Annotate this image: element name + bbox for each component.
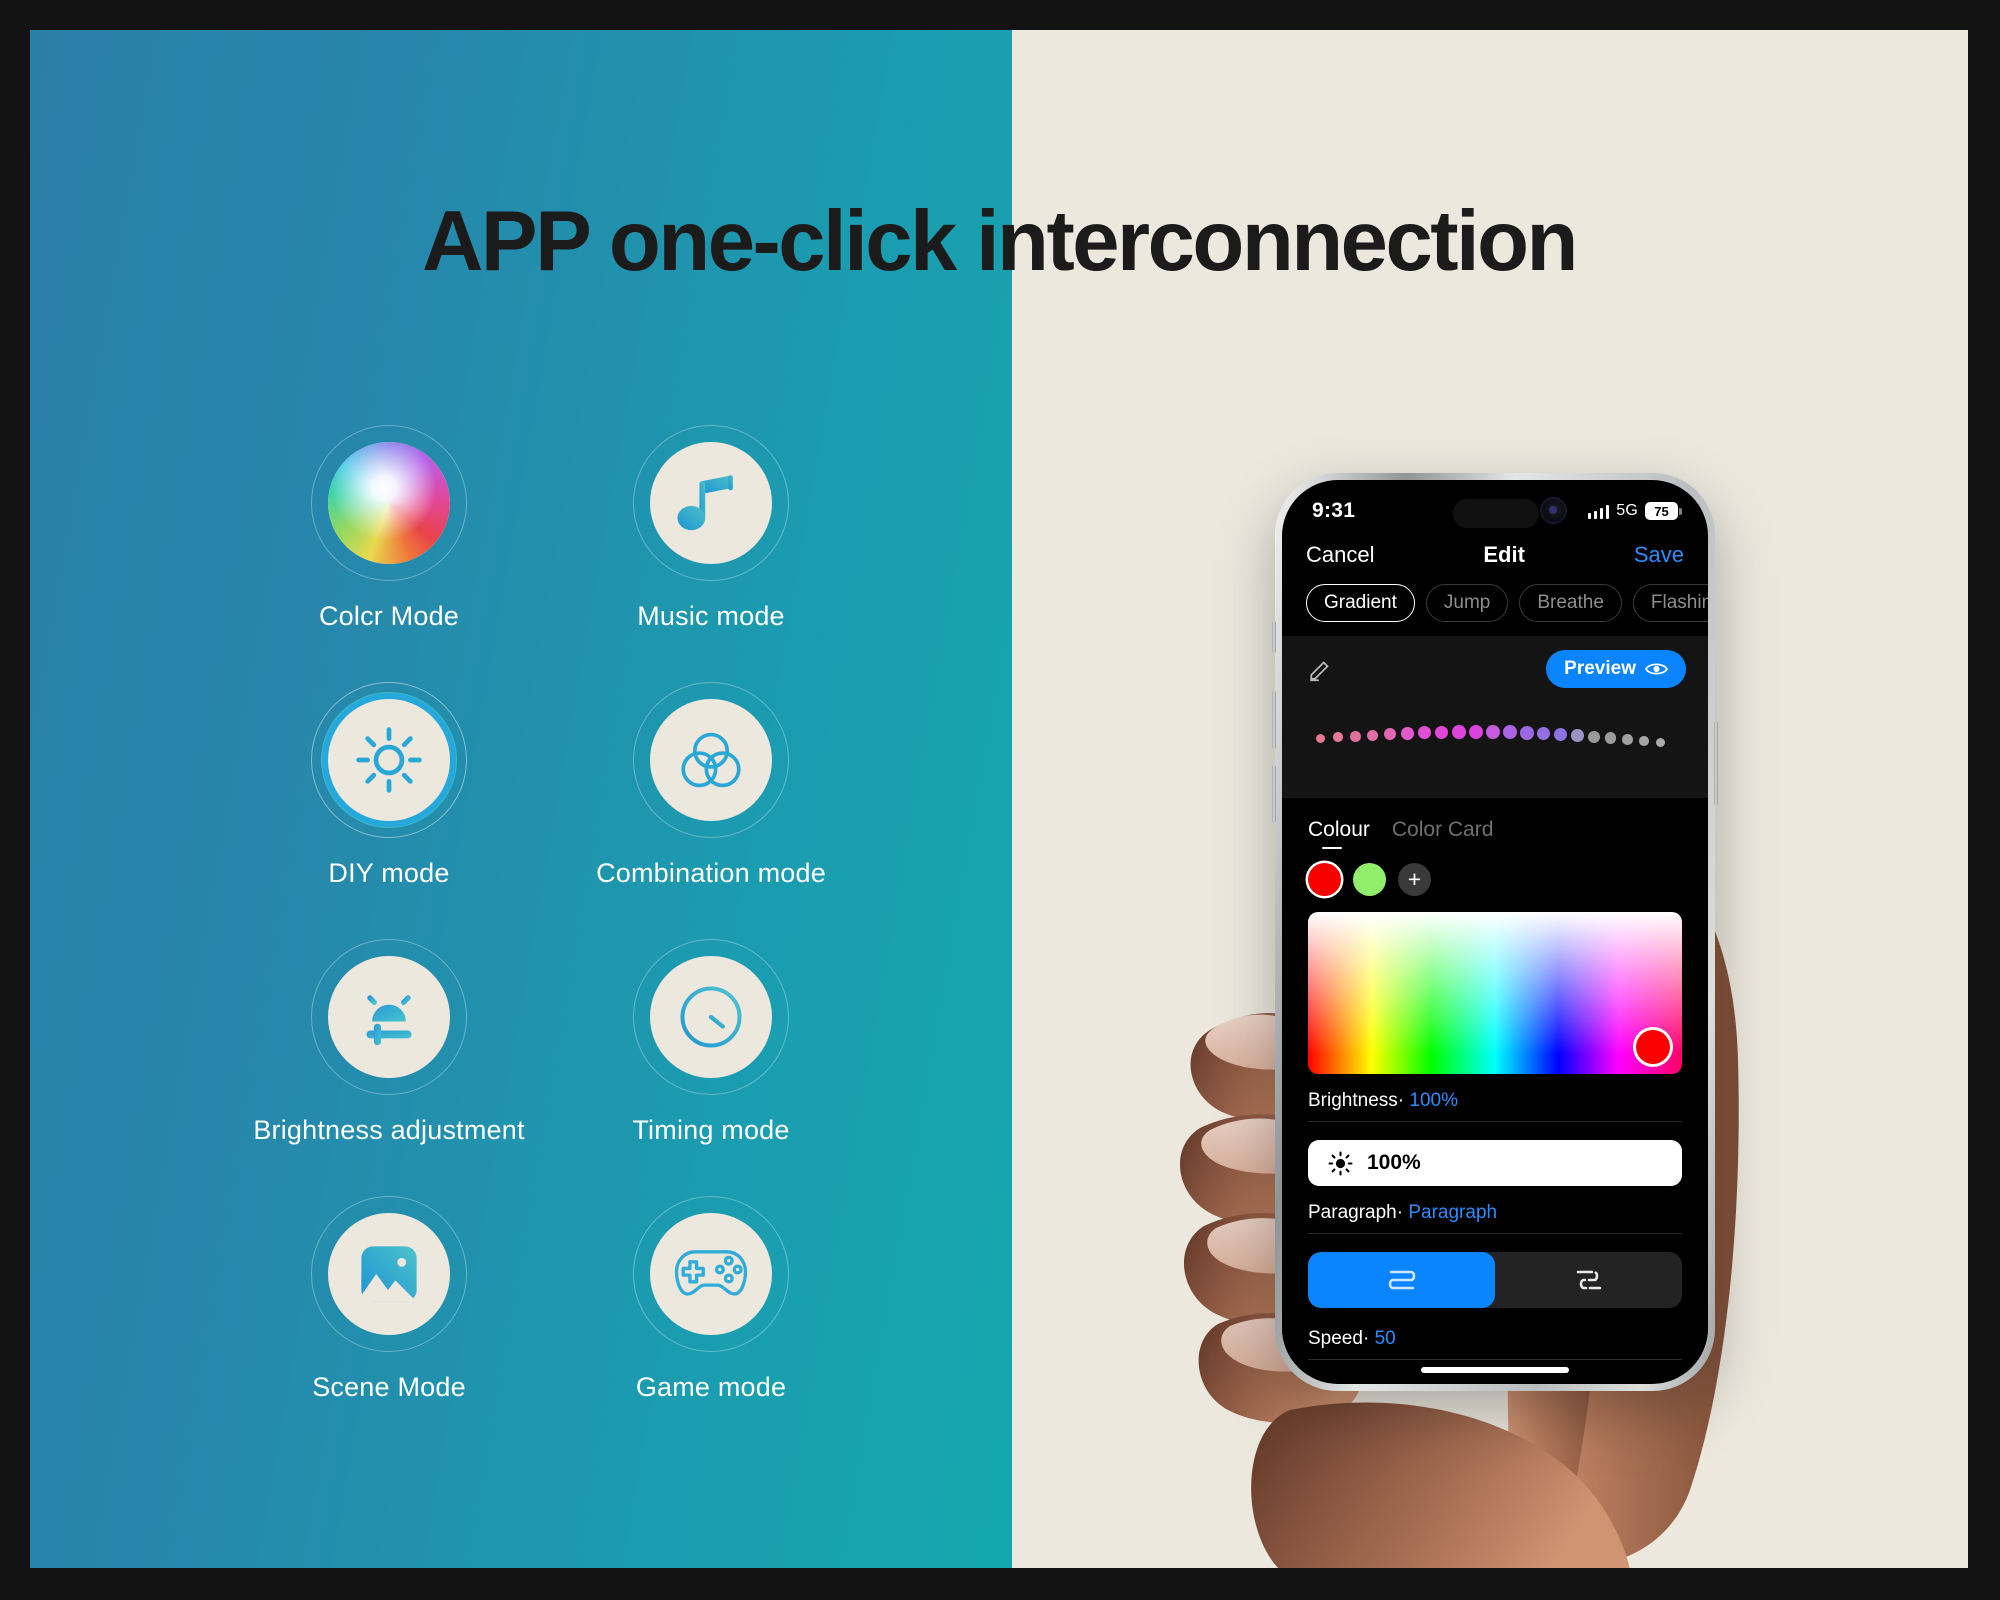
color-swatch-green[interactable] <box>1353 863 1386 896</box>
mode-grid: Colcr Mode <box>240 425 860 1453</box>
speed-label: Speed· 50 <box>1308 1328 1682 1359</box>
gradient-dot <box>1503 725 1517 739</box>
gradient-dot <box>1384 728 1396 740</box>
mode-halo <box>633 1196 789 1352</box>
phone-mockup: 9:31 5G 75 <box>1275 473 1715 1391</box>
preview-button[interactable]: Preview <box>1546 650 1686 688</box>
mode-label: Scene Mode <box>312 1372 466 1403</box>
mode-item-timing[interactable]: Timing mode <box>562 939 860 1196</box>
power-button[interactable] <box>1714 721 1718 805</box>
mode-disc <box>650 1213 772 1335</box>
silent-switch[interactable] <box>1272 621 1276 653</box>
effect-tabs: Gradient Jump Breathe Flashing <box>1282 580 1708 636</box>
color-picker-area[interactable] <box>1308 912 1682 1074</box>
gradient-dot <box>1452 725 1466 739</box>
volume-down-button[interactable] <box>1272 765 1276 823</box>
gradient-dot <box>1656 738 1665 747</box>
phone-frame: 9:31 5G 75 <box>1275 473 1715 1391</box>
mode-label: Brightness adjustment <box>253 1115 524 1146</box>
volume-up-button[interactable] <box>1272 691 1276 749</box>
preview-button-label: Preview <box>1564 658 1636 680</box>
brightness-label: Brightness· 100% <box>1308 1090 1682 1121</box>
add-color-button[interactable]: + <box>1398 863 1431 896</box>
mode-label: Game mode <box>636 1372 786 1403</box>
tab-colour[interactable]: Colour <box>1308 818 1370 851</box>
status-time: 9:31 <box>1312 499 1355 523</box>
brightness-separator: · <box>1398 1090 1404 1111</box>
color-wheel-icon <box>328 442 450 564</box>
mode-label: DIY mode <box>328 858 449 889</box>
mode-label: Music mode <box>637 601 785 632</box>
front-camera-icon <box>1540 497 1567 524</box>
mode-disc <box>328 699 450 821</box>
gradient-dot <box>1486 725 1500 739</box>
status-bar: 9:31 5G 75 <box>1282 480 1708 536</box>
eye-icon <box>1645 661 1668 677</box>
status-indicators: 5G 75 <box>1588 502 1678 520</box>
venn-circles-icon <box>674 723 748 797</box>
brightness-row: Brightness· 100% <box>1308 1090 1682 1186</box>
tab-jump[interactable]: Jump <box>1426 584 1508 622</box>
mode-halo <box>311 425 467 581</box>
gradient-dot <box>1622 734 1633 745</box>
mode-item-color[interactable]: Colcr Mode <box>240 425 538 682</box>
paragraph-label: Paragraph· Paragraph <box>1308 1202 1682 1233</box>
color-swatch-red[interactable] <box>1308 863 1341 896</box>
speed-label-text: Speed <box>1308 1328 1363 1349</box>
pencil-icon[interactable] <box>1308 656 1334 682</box>
gradient-dot <box>1554 728 1567 741</box>
paragraph-row: Paragraph· Paragraph <box>1308 1202 1682 1308</box>
colour-section: Colour Color Card + <box>1282 798 1708 1360</box>
gradient-dot <box>1537 727 1550 740</box>
brightness-value: 100% <box>1409 1090 1458 1111</box>
brightness-slider[interactable]: 100% <box>1308 1140 1682 1186</box>
flow-reverse-icon <box>1570 1267 1608 1293</box>
mode-halo <box>633 682 789 838</box>
gradient-dot <box>1333 732 1343 742</box>
mode-item-brightness[interactable]: Brightness adjustment <box>240 939 538 1196</box>
gradient-dot <box>1605 732 1616 743</box>
gradient-dot <box>1367 730 1378 741</box>
page-title: APP one-click interconnection <box>30 193 1968 291</box>
phone-screen: 9:31 5G 75 <box>1282 480 1708 1384</box>
mode-item-scene[interactable]: Scene Mode <box>240 1196 538 1453</box>
mode-halo <box>311 1196 467 1352</box>
mode-disc <box>650 699 772 821</box>
home-indicator[interactable] <box>1421 1367 1569 1373</box>
brightness-slider-value: 100% <box>1367 1151 1421 1175</box>
save-button[interactable]: Save <box>1634 542 1684 568</box>
tab-gradient[interactable]: Gradient <box>1306 584 1415 622</box>
mode-item-combination[interactable]: Combination mode <box>562 682 860 939</box>
mode-disc <box>328 1213 450 1335</box>
cellular-signal-icon <box>1588 504 1610 519</box>
dynamic-island <box>1453 499 1539 528</box>
speed-value: 50 <box>1375 1328 1396 1349</box>
tab-breathe[interactable]: Breathe <box>1519 584 1622 622</box>
paragraph-label-text: Paragraph <box>1308 1202 1397 1223</box>
mode-halo-active <box>311 682 467 838</box>
gradient-dot-strip[interactable] <box>1308 704 1686 770</box>
music-note-icon <box>674 466 748 540</box>
mode-label: Combination mode <box>596 858 826 889</box>
battery-icon: 75 <box>1645 502 1678 520</box>
mode-label: Colcr Mode <box>319 601 459 632</box>
preview-panel: Preview <box>1282 636 1708 798</box>
mode-item-game[interactable]: Game mode <box>562 1196 860 1453</box>
paragraph-value: Paragraph <box>1408 1202 1497 1223</box>
flow-forward-icon-button[interactable] <box>1308 1252 1495 1308</box>
gradient-dot <box>1588 731 1600 743</box>
mode-disc <box>328 956 450 1078</box>
paragraph-separator: · <box>1397 1202 1403 1223</box>
gradient-dot <box>1350 731 1361 742</box>
mode-halo <box>311 939 467 1095</box>
speed-row: Speed· 50 <box>1308 1328 1682 1360</box>
colour-tabs: Colour Color Card <box>1308 818 1682 851</box>
cancel-button[interactable]: Cancel <box>1306 542 1374 568</box>
tab-flashing[interactable]: Flashing <box>1633 584 1708 622</box>
brightness-label-text: Brightness <box>1308 1090 1398 1111</box>
mode-label: Timing mode <box>632 1115 789 1146</box>
brightness-slider-icon <box>353 981 425 1053</box>
mode-disc <box>328 442 450 564</box>
battery-level: 75 <box>1654 504 1668 519</box>
mode-item-diy[interactable]: DIY mode <box>240 682 538 939</box>
poster-canvas: APP one-click interconnection Colcr Mode <box>0 0 2000 1600</box>
sun-icon <box>353 724 425 796</box>
poster-content: APP one-click interconnection Colcr Mode <box>30 30 1968 1568</box>
gradient-dot <box>1435 726 1448 739</box>
gradient-dot <box>1571 729 1584 742</box>
mode-halo <box>633 425 789 581</box>
paragraph-segmented-control <box>1308 1252 1682 1308</box>
mode-halo <box>633 939 789 1095</box>
preview-row: Preview <box>1308 650 1686 688</box>
divider <box>1308 1233 1682 1234</box>
nav-bar: Cancel Edit Save <box>1282 536 1708 580</box>
gradient-dot <box>1316 734 1325 743</box>
speed-separator: · <box>1363 1328 1369 1349</box>
gradient-dot <box>1469 725 1483 739</box>
mode-disc <box>650 956 772 1078</box>
gradient-dot <box>1401 727 1414 740</box>
color-picker-handle[interactable] <box>1636 1030 1670 1064</box>
clock-icon <box>673 979 749 1055</box>
gradient-dot <box>1520 726 1534 740</box>
swatch-row: + <box>1308 863 1682 896</box>
screen-title: Edit <box>1374 542 1633 568</box>
gradient-dot <box>1639 736 1649 746</box>
gradient-dot <box>1418 726 1431 739</box>
gamepad-icon <box>671 1234 751 1314</box>
network-type-label: 5G <box>1616 502 1638 520</box>
flow-forward-icon <box>1383 1267 1421 1293</box>
mode-item-music[interactable]: Music mode <box>562 425 860 682</box>
tab-color-card[interactable]: Color Card <box>1392 818 1494 851</box>
divider <box>1308 1359 1682 1360</box>
sun-icon <box>1328 1151 1353 1176</box>
divider <box>1308 1121 1682 1122</box>
flow-reverse-icon-button[interactable] <box>1495 1252 1682 1308</box>
mode-disc <box>650 442 772 564</box>
picture-icon <box>355 1240 423 1308</box>
